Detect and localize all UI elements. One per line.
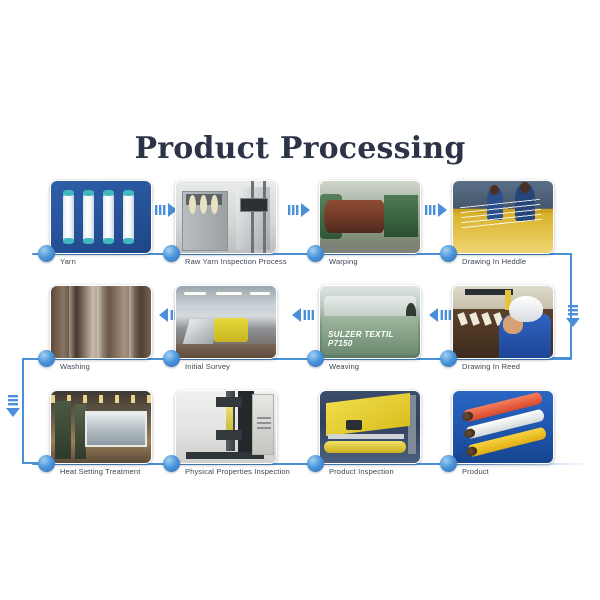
drawing-in-heddle-workers-photo: [452, 180, 554, 254]
node-dot: [38, 245, 55, 262]
flow-step-label: Physical Properties Inspection: [185, 467, 290, 476]
flow-step-label: Warping: [329, 257, 358, 266]
node-dot: [38, 455, 55, 472]
flow-step-drawing-in-reed[interactable]: Drawing In Reed: [440, 280, 575, 385]
flow-step-heat-setting-treatment[interactable]: Heat Setting Treatment: [38, 385, 173, 490]
node-dot: [307, 455, 324, 472]
node-dot: [163, 350, 180, 367]
flow-step-label: Product: [462, 467, 489, 476]
flow-step-product[interactable]: Product: [440, 385, 575, 490]
finished-fabric-rolls-photo: [452, 390, 554, 464]
flow-step-label: Drawing In Reed: [462, 362, 520, 371]
flow-step-weaving[interactable]: SULZER TEXTIL P7150 Weaving: [307, 280, 442, 385]
flow-step-label: Weaving: [329, 362, 359, 371]
node-dot: [163, 455, 180, 472]
node-dot: [440, 245, 457, 262]
flow-step-label: Raw Yarn Inspection Process: [185, 257, 287, 266]
node-dot: [440, 455, 457, 472]
flow-step-label: Product Inspection: [329, 467, 394, 476]
node-dot: [38, 350, 55, 367]
flow-step-yarn[interactable]: Yarn: [38, 175, 173, 280]
raw-yarn-inspection-machine-photo: [175, 180, 277, 254]
warping-machine-photo: [319, 180, 421, 254]
node-dot: [163, 245, 180, 262]
flow-step-drawing-in-heddle[interactable]: Drawing In Heddle: [440, 175, 575, 280]
flow-row-2: Washing: [0, 280, 600, 385]
initial-survey-factory-photo: [175, 285, 277, 359]
diagram-canvas: Product Processing Yarn: [0, 0, 600, 600]
flow-step-label: Initial Survey: [185, 362, 230, 371]
drawing-in-reed-worker-photo: [452, 285, 554, 359]
node-dot: [307, 350, 324, 367]
tensile-testing-machine-photo: [175, 390, 277, 464]
flow-step-product-inspection[interactable]: Product Inspection: [307, 385, 442, 490]
washing-fabric-photo: [50, 285, 152, 359]
flow-step-warping[interactable]: Warping: [307, 175, 442, 280]
yarn-cones-photo: [50, 180, 152, 254]
flow-step-physical-properties-inspection[interactable]: Physical Properties Inspection: [163, 385, 298, 490]
node-dot: [307, 245, 324, 262]
flow-step-initial-survey[interactable]: Initial Survey: [163, 280, 298, 385]
machine-brand-text: SULZER TEXTIL P7150: [328, 331, 412, 347]
flow-step-raw-yarn-inspection[interactable]: Raw Yarn Inspection Process: [163, 175, 298, 280]
page-title: Product Processing: [0, 131, 600, 166]
flow-step-label: Heat Setting Treatment: [60, 467, 140, 476]
product-inspection-table-photo: [319, 390, 421, 464]
flow-step-label: Yarn: [60, 257, 76, 266]
flow-row-1: Yarn: [0, 175, 600, 280]
heat-setting-machine-photo: [50, 390, 152, 464]
flow-row-3: Heat Setting Treatment Physical Properti…: [0, 385, 600, 490]
flow-step-washing[interactable]: Washing: [38, 280, 173, 385]
weaving-machine-photo: SULZER TEXTIL P7150: [319, 285, 421, 359]
flow-step-label: Drawing In Heddle: [462, 257, 526, 266]
node-dot: [440, 350, 457, 367]
flow-step-label: Washing: [60, 362, 90, 371]
